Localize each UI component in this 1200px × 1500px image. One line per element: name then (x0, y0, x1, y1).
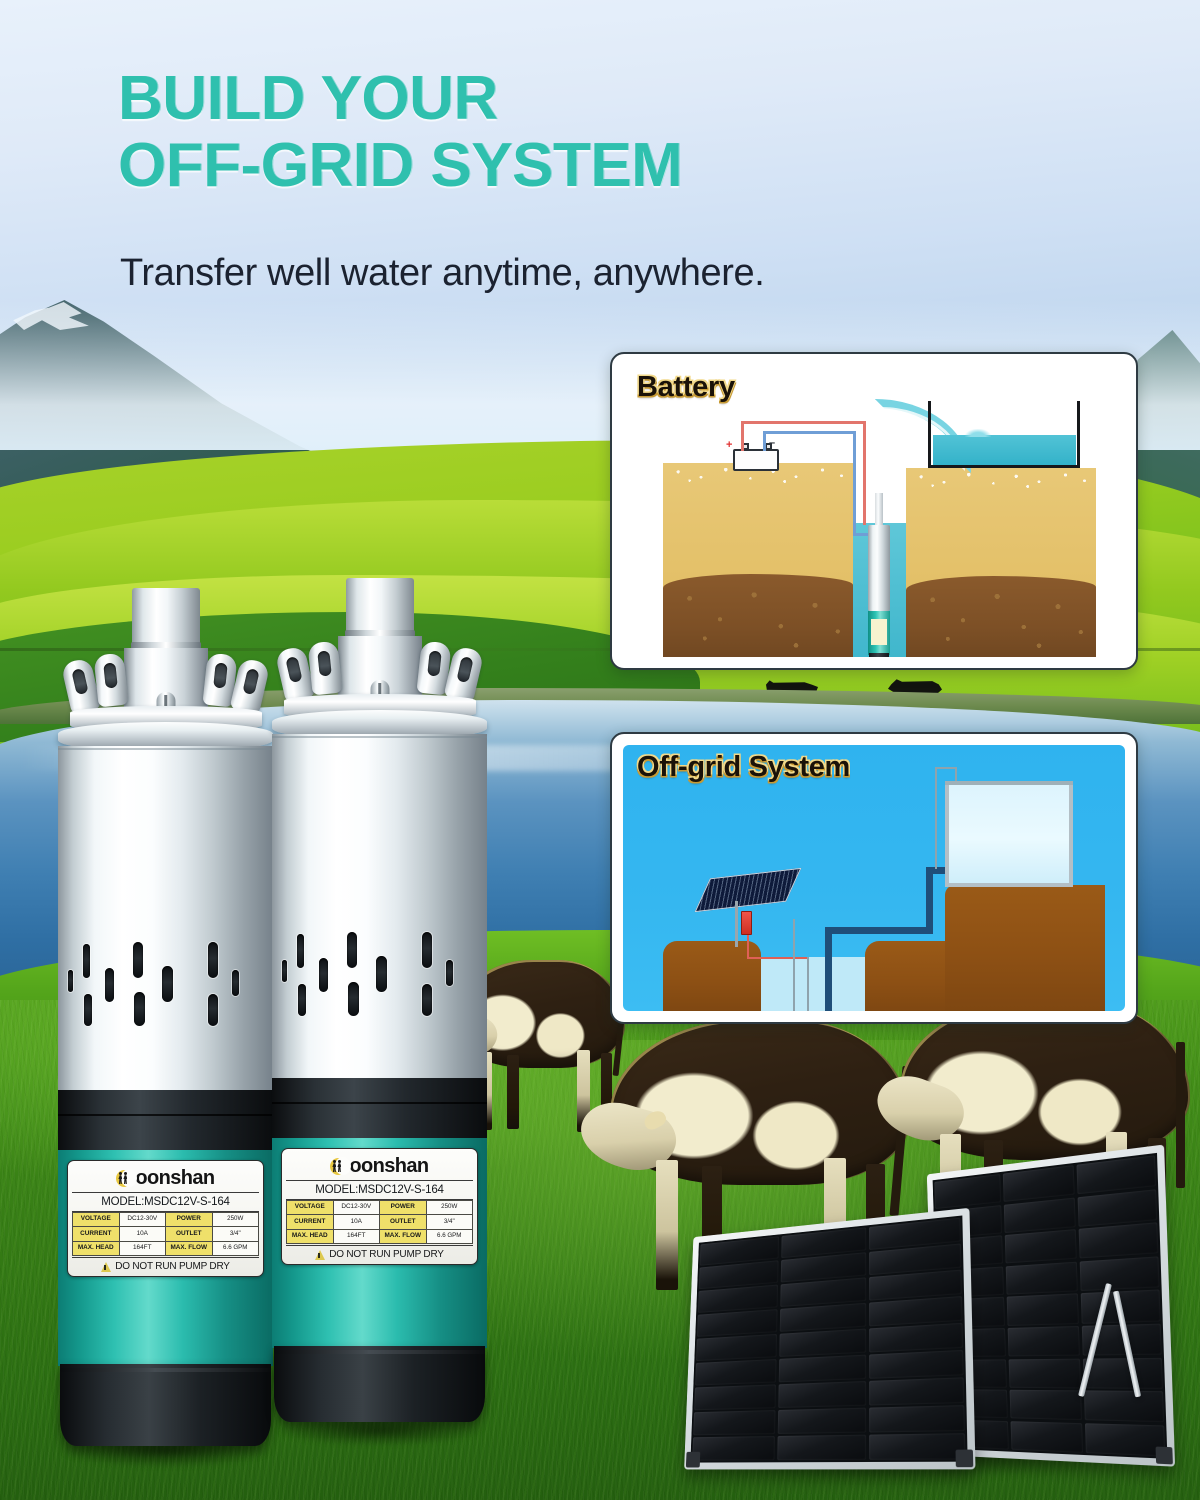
lifting-lug (93, 653, 128, 708)
intake-slot (297, 934, 304, 968)
battery-icon (733, 449, 779, 471)
spec-key: VOLTAGE (73, 1212, 120, 1227)
table-row: MAX. HEAD 164FT MAX. FLOW 6.6 GPM (287, 1229, 473, 1244)
intake-slot (84, 994, 92, 1026)
ground-elevated (945, 885, 1105, 1011)
frame-corner (956, 1450, 974, 1468)
spec-value: 3/4" (426, 1215, 473, 1230)
warning-triangle-icon (315, 1250, 325, 1260)
spec-key: CURRENT (73, 1227, 120, 1242)
charge-controller (741, 911, 752, 935)
frame-corner (686, 1452, 700, 1468)
brand-name: oonshan (349, 1156, 428, 1176)
spec-table: VOLTAGE DC12-30V POWER 250W CURRENT 10A … (286, 1200, 473, 1245)
diagram-card-offgrid: Off-grid System (610, 732, 1138, 1024)
product-marketing-image: BUILD YOUR OFF-GRID SYSTEM Transfer well… (0, 0, 1200, 1500)
intake-slot (319, 958, 328, 992)
red-wire (747, 957, 809, 959)
table-row: CURRENT 10A OUTLET 3/4" (287, 1215, 473, 1230)
soil-block-right (906, 468, 1096, 657)
cell-column (777, 1227, 866, 1460)
blue-wire (853, 431, 856, 535)
table-row: VOLTAGE DC12-30V POWER 250W (287, 1200, 473, 1215)
table-row: VOLTAGE DC12-30V POWER 250W (73, 1212, 259, 1227)
spec-value: DC12-30V (119, 1212, 166, 1227)
lifting-lug (307, 641, 342, 696)
submersible-pump (866, 493, 892, 657)
subtitle: Transfer well water anytime, anywhere. (120, 252, 1100, 295)
intake-slot (422, 984, 432, 1016)
intake-slot (162, 966, 173, 1002)
pump-base-cap (274, 1346, 485, 1422)
intake-slots-group (58, 932, 273, 1062)
model-number: MODEL:MSDC12V-S-164 (72, 1192, 259, 1212)
spec-key: MAX. HEAD (287, 1229, 334, 1244)
spec-key: VOLTAGE (287, 1200, 334, 1215)
people-icon (332, 1160, 341, 1172)
cow-grazing (610, 1020, 910, 1185)
battery-negative-label: – (769, 437, 775, 449)
intake-slot (446, 960, 453, 986)
blue-wire (763, 431, 766, 451)
table-row: MAX. HEAD 164FT MAX. FLOW 6.6 GPM (73, 1241, 259, 1256)
model-number: MODEL:MSDC12V-S-164 (286, 1180, 473, 1200)
blue-wire (763, 431, 855, 434)
intake-slot (83, 944, 90, 978)
spec-key: MAX. FLOW (166, 1241, 213, 1256)
warning-triangle-icon (101, 1262, 111, 1272)
product-pump-secondary: oonshan MODEL:MSDC12V-S-164 VOLTAGE DC12… (272, 578, 487, 1438)
intake-slot (282, 960, 287, 982)
discharge-pipe (825, 927, 832, 1011)
spec-value: 10A (333, 1215, 380, 1230)
spec-key: OUTLET (166, 1227, 213, 1242)
people-icon (118, 1172, 127, 1184)
intake-slot (134, 992, 145, 1026)
discharge-pipe (926, 867, 933, 931)
spec-value: 3/4" (212, 1227, 259, 1242)
tank-return-line (935, 767, 937, 869)
crescent-moon-icon (116, 1170, 133, 1187)
spec-value: DC12-30V (333, 1200, 380, 1215)
diagram-title-battery: Battery (637, 371, 735, 404)
intake-slot (376, 956, 387, 992)
spec-key: MAX. FLOW (380, 1229, 427, 1244)
crescent-moon-icon (330, 1158, 347, 1175)
intake-slot (68, 970, 73, 992)
product-spec-label: oonshan MODEL:MSDC12V-S-164 VOLTAGE DC12… (67, 1160, 264, 1277)
product-pump-primary: oonshan MODEL:MSDC12V-S-164 VOLTAGE DC12… (58, 588, 273, 1458)
spec-value: 10A (119, 1227, 166, 1242)
red-wire (741, 421, 866, 424)
red-wire (747, 935, 749, 959)
warning-row: DO NOT RUN PUMP DRY (72, 1257, 259, 1273)
spec-key: CURRENT (287, 1215, 334, 1230)
water-splash (965, 429, 991, 437)
frame-corner (1156, 1447, 1173, 1465)
cell-column (1003, 1165, 1084, 1453)
brand-logo: oonshan (72, 1165, 259, 1191)
spec-value: 164FT (333, 1229, 380, 1244)
intake-slot (208, 942, 218, 978)
brand-logo: oonshan (286, 1153, 473, 1179)
sensor-cable (793, 919, 795, 1011)
product-spec-label: oonshan MODEL:MSDC12V-S-164 VOLTAGE DC12… (281, 1148, 478, 1265)
discharge-pipe (825, 927, 933, 934)
intake-slot (348, 982, 359, 1016)
intake-slot (208, 994, 218, 1026)
intake-slots-group (272, 922, 487, 1052)
intake-slot (422, 932, 432, 968)
spec-value: 164FT (119, 1241, 166, 1256)
tank-water-level (933, 435, 1076, 465)
soil-block-left (663, 463, 853, 657)
intake-slot (133, 942, 143, 978)
pump-barrel (272, 734, 487, 1084)
warning-text: DO NOT RUN PUMP DRY (115, 1261, 230, 1272)
brand-name: oonshan (135, 1168, 214, 1188)
pump-cable (807, 957, 809, 1011)
page-title: BUILD YOUR OFF-GRID SYSTEM (118, 66, 1078, 200)
spec-value: 6.6 GPM (212, 1241, 259, 1256)
intake-slot (105, 968, 114, 1002)
cow-grazing (900, 1000, 1190, 1160)
elevated-water-tank (945, 785, 1073, 887)
headline-line-1: BUILD YOUR (118, 64, 498, 133)
pump-motor-band (272, 1078, 487, 1140)
spec-key: OUTLET (380, 1215, 427, 1230)
mounting-pole (735, 901, 738, 947)
red-wire (741, 421, 744, 451)
headline-line-2: OFF-GRID SYSTEM (118, 133, 1078, 200)
diagram-card-battery: Battery + – (610, 352, 1138, 670)
spec-value: 250W (212, 1212, 259, 1227)
pump-base-cap (60, 1364, 271, 1446)
table-row: CURRENT 10A OUTLET 3/4" (73, 1227, 259, 1242)
pump-outlet-port (132, 588, 200, 648)
intake-slot (347, 932, 357, 968)
pump-barrel (58, 746, 273, 1096)
intake-slot (232, 970, 239, 996)
warning-row: DO NOT RUN PUMP DRY (286, 1245, 473, 1261)
spec-value: 6.6 GPM (426, 1229, 473, 1244)
cell-column (692, 1236, 779, 1460)
intake-slot (298, 984, 306, 1016)
pump-outlet-port (346, 578, 414, 636)
tank-return-line (935, 767, 957, 769)
spec-key: POWER (380, 1200, 427, 1215)
cell-column (869, 1218, 965, 1460)
spec-key: MAX. HEAD (73, 1241, 120, 1256)
warning-text: DO NOT RUN PUMP DRY (329, 1249, 444, 1260)
spec-key: POWER (166, 1212, 213, 1227)
solar-panel-front (684, 1208, 975, 1470)
spec-value: 250W (426, 1200, 473, 1215)
battery-positive-label: + (726, 439, 732, 451)
diagram-title-offgrid: Off-grid System (637, 751, 850, 784)
spec-table: VOLTAGE DC12-30V POWER 250W CURRENT 10A … (72, 1212, 259, 1257)
pump-motor-band (58, 1090, 273, 1152)
